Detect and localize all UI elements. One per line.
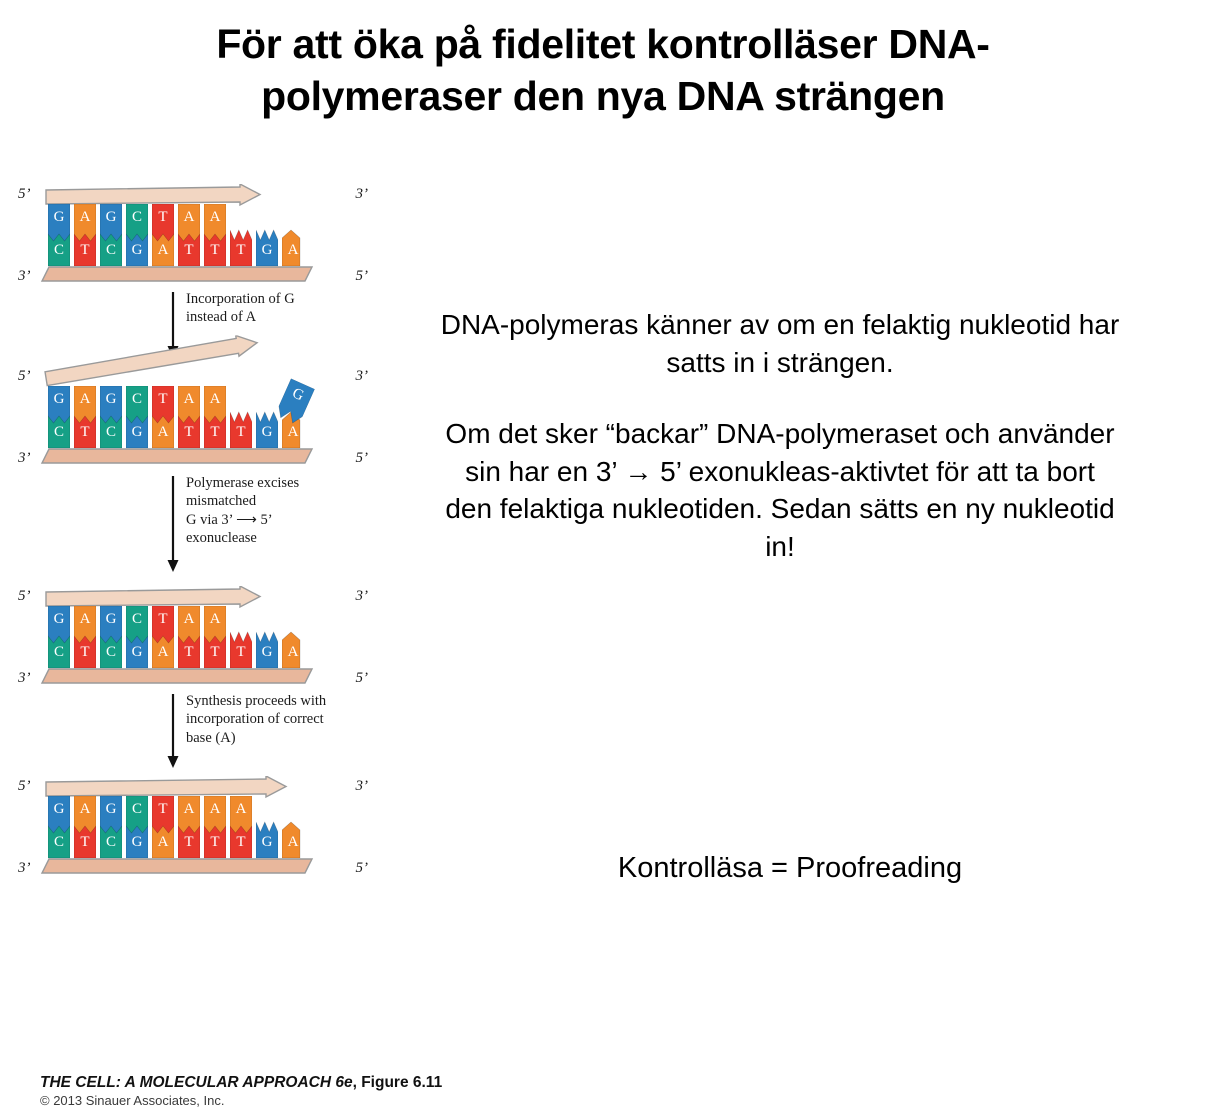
base-letter-top: T: [152, 391, 174, 408]
base-letter-bottom: C: [100, 424, 122, 441]
base-letter-top: A: [204, 801, 226, 818]
base-letter-top: G: [100, 391, 122, 408]
figure-credit-source: THE CELL: A MOLECULAR APPROACH 6e, Figur…: [40, 1074, 500, 1092]
base-letter-bottom: T: [178, 834, 200, 851]
base-letter-bottom: C: [48, 834, 70, 851]
base-letter-bottom: T: [204, 834, 226, 851]
base-letter-bottom: T: [204, 644, 226, 661]
base-letter-bottom: C: [100, 242, 122, 259]
base-pair-column: CG: [126, 204, 148, 266]
base-letter-top: C: [126, 391, 148, 408]
base-pair-column: GC: [48, 204, 70, 266]
figure-caption-line: incorporation of correct: [186, 710, 386, 728]
bottom-strand-backbone: [40, 666, 314, 688]
base-pair-column: GC: [48, 386, 70, 448]
base-pair-ladder: GCATGCCGTAATATTGA: [48, 606, 308, 668]
base-letter-top: T: [152, 611, 174, 628]
base-letter-top: C: [126, 611, 148, 628]
label-bottom-right-end: 5’: [356, 670, 369, 687]
base-letter-bottom: T: [178, 644, 200, 661]
figure-caption-line: mismatched: [186, 492, 386, 510]
base-pair-column: AT: [178, 796, 200, 858]
label-bottom-left-end: 3’: [18, 450, 31, 467]
base-letter-bottom: G: [126, 644, 148, 661]
base-letter-top: A: [178, 391, 200, 408]
figure-credit: THE CELL: A MOLECULAR APPROACH 6e, Figur…: [40, 1074, 500, 1108]
base-letter-top: G: [48, 611, 70, 628]
base-letter-bottom: T: [178, 242, 200, 259]
base-pair-column: G: [256, 606, 278, 668]
base-letter-bottom: C: [100, 834, 122, 851]
base-letter-bottom: T: [204, 424, 226, 441]
base-letter-bottom: A: [152, 424, 174, 441]
label-top-left-end: 5’: [18, 588, 31, 605]
label-top-left-end: 5’: [18, 778, 31, 795]
figure-panel-mismatch-excised: 5’ 3’ 3’ 5’ GCATGCCGTAATATTGA: [18, 582, 368, 694]
base-pair-column: A: [282, 796, 304, 858]
figure-step-3-caption: Synthesis proceeds withincorporation of …: [186, 692, 386, 747]
label-top-right-end: 3’: [356, 368, 369, 385]
base-pair-column: CG: [126, 386, 148, 448]
base-letter-bottom: G: [126, 242, 148, 259]
base-letter-bottom: A: [152, 242, 174, 259]
base-letter-bottom: A: [282, 644, 304, 661]
base-letter-bottom: T: [74, 644, 96, 661]
base-letter-bottom: G: [256, 424, 278, 441]
base-pair-column: AT: [74, 204, 96, 266]
base-letter-bottom: T: [230, 424, 252, 441]
label-top-left-end: 5’: [18, 186, 31, 203]
base-pair-column: TA: [152, 796, 174, 858]
base-letter-bottom: C: [100, 644, 122, 661]
figure-step-1-caption: Incorporation of Ginstead of A: [186, 290, 386, 327]
base-pair-column: AT: [74, 606, 96, 668]
down-arrow-icon: [166, 694, 180, 773]
figure-credit-copyright: © 2013 Sinauer Associates, Inc.: [40, 1093, 500, 1108]
base-letter-top: C: [126, 801, 148, 818]
base-pair-column: CG: [126, 606, 148, 668]
figure-caption-line: G via 3’ ⟶ 5’: [186, 511, 386, 529]
figure-caption-line: instead of A: [186, 308, 386, 326]
base-pair-column: AT: [204, 796, 226, 858]
figure-step-2-caption: Polymerase excisesmismatchedG via 3’ ⟶ 5…: [186, 474, 386, 548]
base-letter-bottom: T: [74, 242, 96, 259]
base-letter-top: T: [152, 209, 174, 226]
figure-caption-line: exonuclease: [186, 529, 386, 547]
base-letter-bottom: T: [178, 424, 200, 441]
label-top-right-end: 3’: [356, 588, 369, 605]
label-bottom-right-end: 5’: [356, 268, 369, 285]
label-top-right-end: 3’: [356, 778, 369, 795]
page-title-line-1: För att öka på fidelitet kontrolläser DN…: [120, 18, 1086, 70]
base-letter-bottom: C: [48, 424, 70, 441]
base-pair-column: AT: [178, 386, 200, 448]
base-letter-bottom: A: [152, 834, 174, 851]
label-top-right-end: 3’: [356, 186, 369, 203]
base-pair-column: GC: [100, 204, 122, 266]
label-bottom-left-end: 3’: [18, 670, 31, 687]
base-letter-bottom: T: [74, 834, 96, 851]
base-letter-bottom: A: [282, 242, 304, 259]
base-letter-top: G: [48, 801, 70, 818]
base-letter-top: A: [74, 611, 96, 628]
body-text-block: DNA-polymeras känner av om en felaktig n…: [440, 306, 1120, 565]
base-pair-column: T: [230, 204, 252, 266]
base-letter-bottom: C: [48, 644, 70, 661]
base-letter-top: A: [204, 611, 226, 628]
base-letter-top: A: [204, 391, 226, 408]
base-letter-top: A: [230, 801, 252, 818]
base-letter-bottom: C: [48, 242, 70, 259]
base-letter-bottom: T: [204, 242, 226, 259]
base-pair-column: AT: [74, 386, 96, 448]
base-letter-bottom: G: [256, 834, 278, 851]
base-letter-top: G: [48, 209, 70, 226]
base-pair-ladder: GCATGCCGTAATATTGA: [48, 204, 308, 266]
label-top-left-end: 5’: [18, 368, 31, 385]
figure-caption-line: Synthesis proceeds with: [186, 692, 386, 710]
footer-note: Kontrolläsa = Proofreading: [440, 852, 1140, 885]
base-letter-bottom: T: [230, 834, 252, 851]
base-pair-column: T: [230, 606, 252, 668]
label-bottom-left-end: 3’: [18, 268, 31, 285]
base-letter-top: A: [178, 209, 200, 226]
bottom-strand-backbone: [40, 264, 314, 286]
figure-panel-correct-base-added: 5’ 3’ 3’ 5’ GCATGCCGTAATATATGA: [18, 772, 368, 884]
label-bottom-right-end: 5’: [356, 450, 369, 467]
base-pair-column: GC: [48, 796, 70, 858]
base-pair-column: AT: [74, 796, 96, 858]
dna-proofreading-figure: 5’ 3’ 3’ 5’ GCATGCCGTAATATTGA Incorporat…: [18, 176, 428, 926]
base-letter-top: A: [178, 801, 200, 818]
base-letter-bottom: G: [126, 834, 148, 851]
bottom-strand-backbone: [40, 446, 314, 468]
down-arrow-icon: [166, 476, 180, 577]
base-pair-column: TA: [152, 606, 174, 668]
base-letter-bottom: G: [256, 644, 278, 661]
base-pair-column: A: [282, 204, 304, 266]
base-pair-column: AT: [230, 796, 252, 858]
base-letter-top: G: [48, 391, 70, 408]
base-pair-column: G: [256, 204, 278, 266]
base-pair-column: AT: [178, 204, 200, 266]
base-letter-top: G: [100, 801, 122, 818]
label-bottom-left-end: 3’: [18, 860, 31, 877]
base-letter-top: A: [74, 391, 96, 408]
body-paragraph-1: DNA-polymeras känner av om en felaktig n…: [440, 306, 1120, 381]
base-pair-ladder: GCATGCCGTAATATTGA: [48, 386, 308, 448]
base-letter-top: C: [126, 209, 148, 226]
base-pair-column: A: [282, 606, 304, 668]
base-letter-top: T: [152, 801, 174, 818]
figure-credit-figure-number: , Figure 6.11: [353, 1074, 443, 1091]
base-pair-column: GC: [100, 386, 122, 448]
figure-panel-mismatch-incorporated: 5’ 3’ 3’ 5’ GCATGCCGTAATATTGA G: [18, 362, 368, 474]
base-letter-top: A: [178, 611, 200, 628]
figure-caption-line: Incorporation of G: [186, 290, 386, 308]
base-pair-column: CG: [126, 796, 148, 858]
base-letter-bottom: A: [282, 834, 304, 851]
base-pair-column: TA: [152, 204, 174, 266]
base-pair-column: AT: [204, 606, 226, 668]
base-pair-column: T: [230, 386, 252, 448]
base-pair-ladder: GCATGCCGTAATATATGA: [48, 796, 308, 858]
base-pair-column: AT: [204, 204, 226, 266]
figure-caption-line: base (A): [186, 729, 386, 747]
page-title-line-2: polymeraser den nya DNA strängen: [120, 70, 1086, 122]
base-letter-top: A: [74, 801, 96, 818]
base-letter-top: A: [204, 209, 226, 226]
base-letter-bottom: T: [74, 424, 96, 441]
page-title: För att öka på fidelitet kontrolläser DN…: [120, 18, 1086, 123]
base-pair-column: G: [256, 796, 278, 858]
base-letter-top: G: [100, 611, 122, 628]
figure-panel-initial: 5’ 3’ 3’ 5’ GCATGCCGTAATATTGA: [18, 180, 368, 292]
figure-credit-book-title: THE CELL: A MOLECULAR APPROACH 6e: [40, 1074, 353, 1091]
base-pair-column: TA: [152, 386, 174, 448]
base-letter-top: G: [100, 209, 122, 226]
base-pair-column: GC: [100, 606, 122, 668]
base-letter-bottom: G: [256, 242, 278, 259]
bottom-strand-backbone: [40, 856, 314, 878]
base-letter-bottom: A: [152, 644, 174, 661]
figure-caption-line: Polymerase excises: [186, 474, 386, 492]
base-letter-bottom: G: [126, 424, 148, 441]
base-pair-column: AT: [178, 606, 200, 668]
base-pair-column: GC: [100, 796, 122, 858]
base-letter-top: A: [74, 209, 96, 226]
base-letter-bottom: T: [230, 242, 252, 259]
base-letter-bottom: T: [230, 644, 252, 661]
base-pair-column: GC: [48, 606, 70, 668]
base-pair-column: AT: [204, 386, 226, 448]
label-bottom-right-end: 5’: [356, 860, 369, 877]
body-paragraph-2: Om det sker “backar” DNA-polymeraset och…: [440, 415, 1120, 565]
